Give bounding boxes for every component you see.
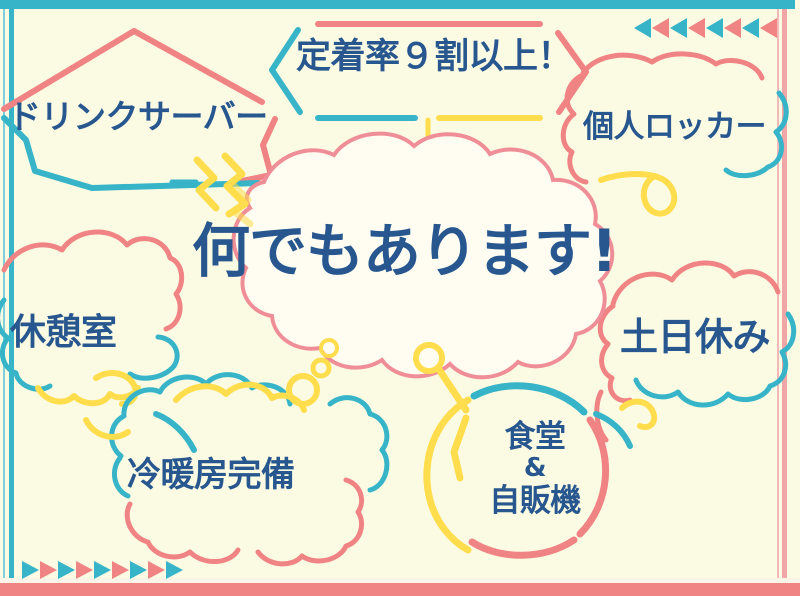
bottom-bar-highlight [0, 578, 800, 583]
top-bar [0, 0, 800, 9]
label-canteen-ampersand: & [470, 454, 600, 484]
label-canteen-group: 食堂 & 自販機 [470, 420, 600, 518]
label-air-conditioning: 冷暖房完備 [127, 458, 295, 492]
label-canteen-line2: 自販機 [470, 484, 600, 518]
label-personal-locker: 個人ロッカー [583, 112, 766, 143]
label-weekend-off: 土日休み [620, 318, 770, 356]
label-break-room: 休憩室 [10, 315, 117, 351]
poster-artwork: .tl { fill:none; stroke:#37b4c8; stroke-… [0, 0, 800, 596]
poster-canvas: .tl { fill:none; stroke:#37b4c8; stroke-… [0, 0, 800, 596]
label-canteen-line1: 食堂 [470, 420, 600, 454]
right-thin-rule [777, 9, 779, 596]
label-retention-rate: 定着率９割以上！ [296, 40, 572, 75]
page-title: 何でもあります! [192, 222, 608, 280]
bottom-bar [0, 583, 800, 596]
label-drink-server: ドリンクサーバー [8, 100, 268, 133]
right-margin [795, 0, 800, 596]
